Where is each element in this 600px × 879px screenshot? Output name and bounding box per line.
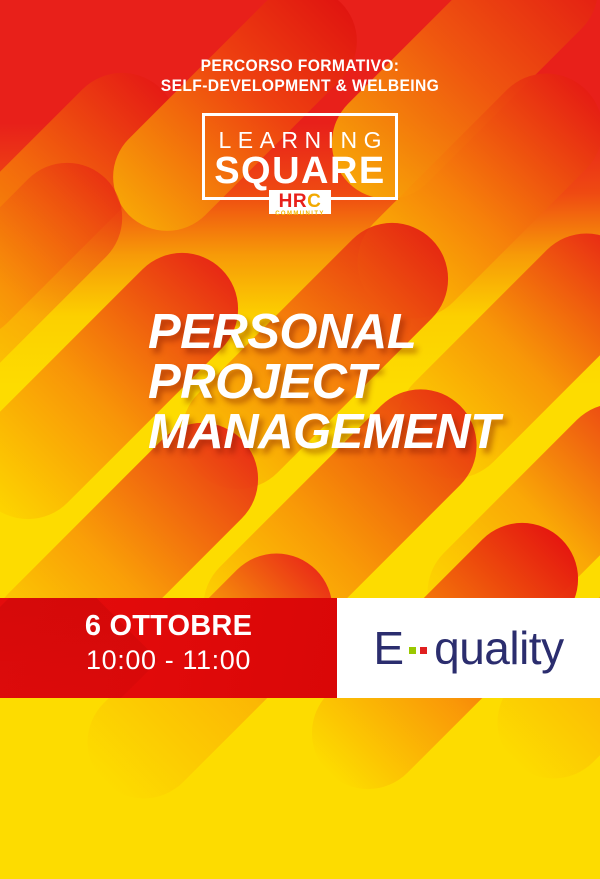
kicker-heading: PERCORSO FORMATIVO: SELF-DEVELOPMENT & W… (24, 56, 576, 96)
logo-word-square: SQUARE (205, 152, 395, 190)
hrc-letter-c: C (307, 191, 321, 212)
poster-canvas: PERCORSO FORMATIVO: SELF-DEVELOPMENT & W… (0, 0, 600, 879)
hrc-letter-h: H (279, 191, 293, 212)
event-date: 6 OTTOBRE (0, 610, 337, 642)
equality-logo-word: quality (434, 625, 563, 671)
event-date-band: 6 OTTOBRE 10:00 - 11:00 (0, 598, 337, 698)
hrc-community-label: COMMUNITY (275, 211, 325, 217)
kicker-line-2: SELF-DEVELOPMENT & WELBEING (24, 76, 576, 96)
event-time: 10:00 - 11:00 (0, 644, 337, 676)
hrc-letters: HRC (276, 192, 324, 211)
dot-green-icon (409, 647, 416, 654)
title-line-1: PERSONAL (148, 307, 500, 357)
sponsor-panel: E quality (337, 598, 600, 698)
equality-logo-prefix: E (373, 625, 404, 671)
dot-red-icon (420, 647, 427, 654)
equality-logo: E quality (373, 625, 563, 671)
equality-logo-dots (409, 647, 427, 654)
learning-square-logo: LEARNING SQUARE (202, 113, 398, 200)
event-date-text: 6 OTTOBRE 10:00 - 11:00 (0, 610, 337, 677)
page-title: PERSONAL PROJECT MANAGEMENT (148, 307, 500, 457)
kicker-line-1: PERCORSO FORMATIVO: (24, 56, 576, 76)
title-line-3: MANAGEMENT (148, 407, 500, 457)
title-line-2: PROJECT (148, 357, 500, 407)
hrc-letter-r: R (293, 191, 307, 212)
